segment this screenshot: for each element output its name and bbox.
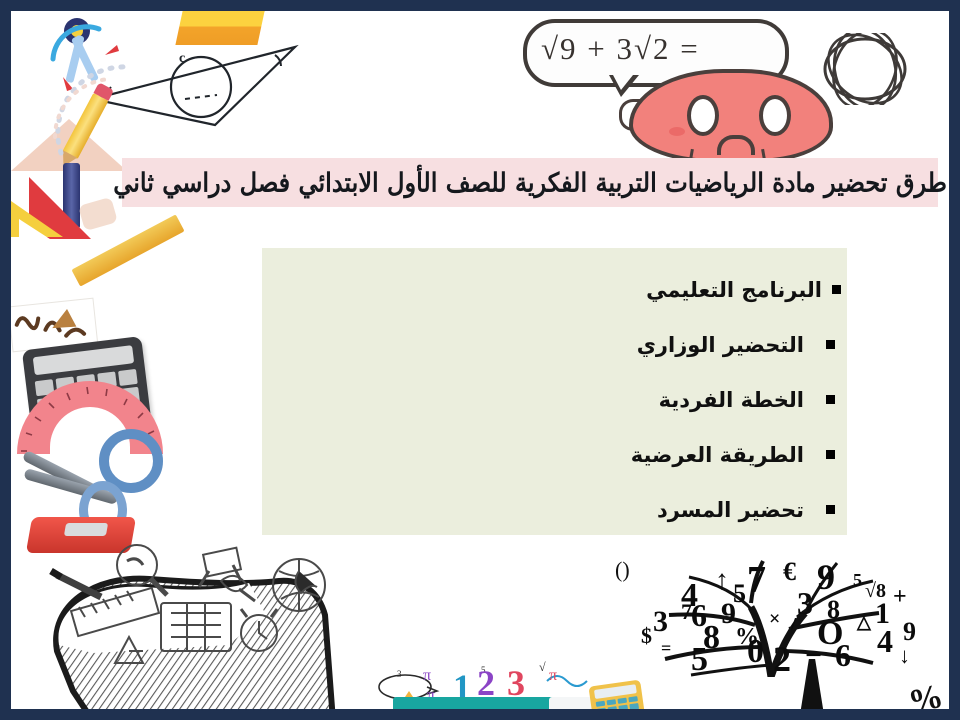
bullet-item-label: الخطة الفردية bbox=[659, 388, 804, 412]
geometry-tools-illustration: c bbox=[11, 11, 311, 171]
tree-glyph: 4 bbox=[877, 625, 893, 657]
sharpener-blade bbox=[64, 523, 108, 536]
bullet-list: البرنامج التعليميالتحضير الوزاريالخطة ال… bbox=[262, 262, 847, 537]
tree-glyph: 7 bbox=[747, 561, 766, 599]
tree-glyph: ↑ bbox=[715, 567, 729, 595]
bullet-item[interactable]: الطريقة العرضية bbox=[262, 427, 847, 482]
scribble-decoration bbox=[817, 33, 913, 105]
tree-glyph: $ bbox=[641, 625, 652, 647]
content-box: البرنامج التعليميالتحضير الوزاريالخطة ال… bbox=[262, 248, 847, 535]
brain-cheek bbox=[669, 127, 685, 136]
tree-glyph: 0 bbox=[747, 635, 764, 669]
bullet-item-label: البرنامج التعليمي bbox=[646, 278, 822, 302]
bullet-item-label: التحضير الوزاري bbox=[637, 333, 804, 357]
tree-percent-symbol: % bbox=[905, 677, 947, 709]
dotted-arc-decoration bbox=[51, 55, 181, 165]
tree-glyph: ↓ bbox=[899, 645, 910, 667]
bullet-item-label: الطريقة العرضية bbox=[631, 443, 804, 467]
tree-glyph: 2 bbox=[773, 641, 791, 677]
desk-number-2: 2 bbox=[477, 665, 495, 701]
pi-symbol-3: π bbox=[549, 667, 557, 685]
page-title: طرق تحضير مادة الرياضيات التربية الفكرية… bbox=[113, 167, 947, 198]
set-square-yellow-cutout bbox=[19, 219, 53, 241]
tree-glyph: 7 bbox=[681, 601, 692, 623]
tree-glyph: × bbox=[769, 609, 780, 629]
bullet-item-label: تحضير المسرد bbox=[657, 498, 804, 522]
tree-glyph: 3 bbox=[797, 587, 813, 619]
tree-glyph: 5 bbox=[853, 571, 862, 589]
head-sketch-svg bbox=[33, 541, 353, 709]
thinking-brain-illustration: √9 + 3√2 = bbox=[501, 11, 949, 171]
bullet-marker-icon bbox=[826, 450, 835, 459]
svg-text:3: 3 bbox=[397, 669, 402, 679]
speech-bubble-equation: √9 + 3√2 = bbox=[541, 31, 700, 67]
tree-glyph: 3 bbox=[653, 607, 668, 637]
bullet-marker-icon bbox=[826, 505, 835, 514]
slide-root: c √9 + 3√2 = bbox=[0, 0, 960, 720]
bullet-item[interactable]: الخطة الفردية bbox=[262, 372, 847, 427]
math-number-tree-illustration: () bbox=[607, 551, 949, 709]
tree-glyph: 5 bbox=[691, 643, 708, 677]
bullet-marker-icon bbox=[826, 340, 835, 349]
speech-bubble-tail bbox=[609, 75, 639, 97]
tree-glyph: 9 bbox=[721, 599, 736, 629]
slide-canvas: c √9 + 3√2 = bbox=[11, 11, 949, 709]
bullet-item[interactable]: البرنامج التعليمي bbox=[262, 262, 847, 317]
tree-glyph: / bbox=[791, 615, 796, 633]
brain-body bbox=[629, 69, 833, 163]
brain-frown-mouth bbox=[717, 135, 755, 155]
tree-glyph: △ bbox=[857, 613, 871, 631]
tree-glyph: 6 bbox=[835, 639, 851, 671]
slide-title-band: طرق تحضير مادة الرياضيات التربية الفكرية… bbox=[122, 158, 938, 207]
bullet-item[interactable]: تحضير المسرد bbox=[262, 482, 847, 537]
head-full-of-school-supplies-sketch bbox=[33, 541, 353, 709]
desk-number-3: 3 bbox=[507, 665, 525, 701]
brain-eye-right bbox=[759, 95, 791, 136]
brain-eye-left bbox=[687, 95, 719, 136]
tree-glyph: = bbox=[661, 639, 671, 657]
bullet-marker-icon bbox=[832, 285, 841, 294]
pi-symbol-1: π bbox=[423, 667, 431, 685]
tree-canopy: 3 4 ↑ 5 7 € 9 5 √8 6 9 7 3 8 1 + 8 % O 4 bbox=[621, 555, 921, 677]
tree-glyph: 9 bbox=[903, 619, 916, 645]
svg-text:√: √ bbox=[539, 661, 546, 674]
tree-glyph: + bbox=[893, 585, 907, 609]
bullet-marker-icon bbox=[826, 395, 835, 404]
bullet-item[interactable]: التحضير الوزاري bbox=[262, 317, 847, 372]
tree-glyph: 9 bbox=[817, 559, 835, 595]
tree-glyph: € bbox=[783, 559, 796, 585]
yellow-box-icon bbox=[175, 11, 264, 45]
